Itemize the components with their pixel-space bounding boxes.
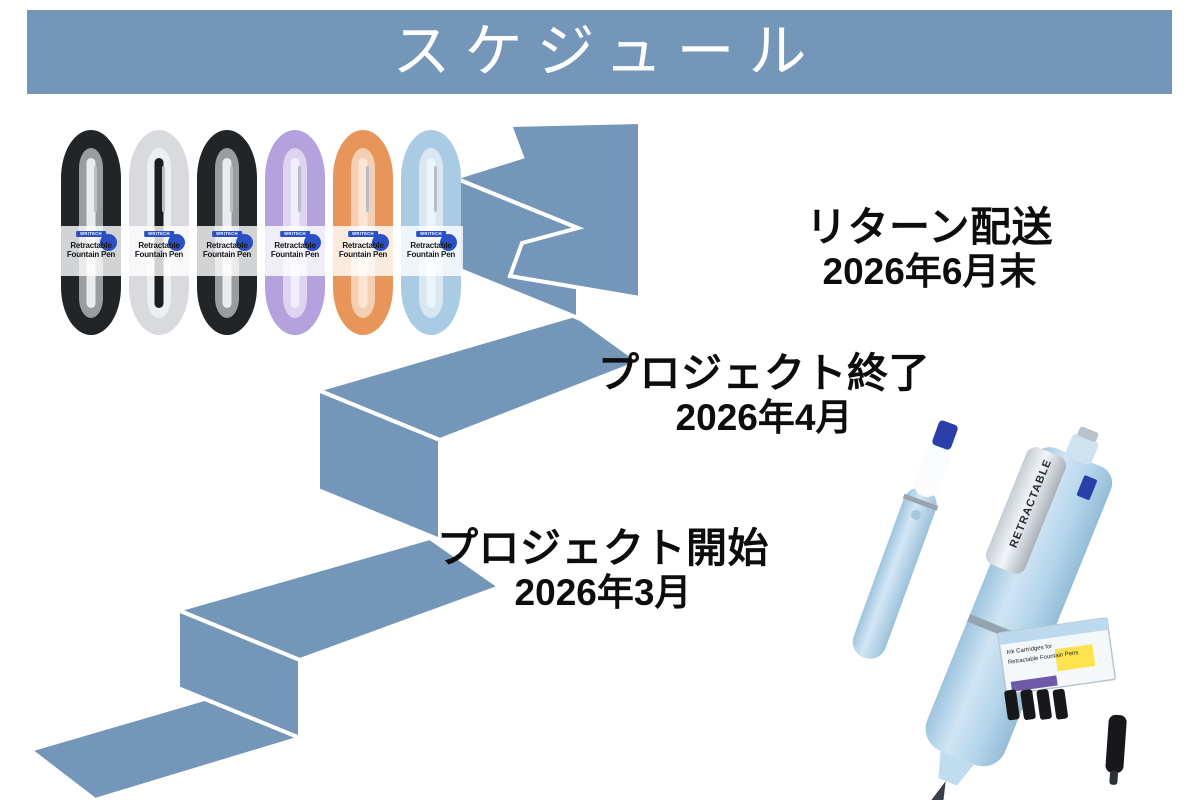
pack-label-line2: Fountain Pen <box>194 251 260 260</box>
pack-pen-clip <box>230 166 233 212</box>
product-pack-2: WRITECHRetractableFountain Pen <box>194 130 260 335</box>
pack-product-label: RetractableFountain Pen <box>58 242 124 260</box>
capped-pen-barrel <box>848 483 942 664</box>
schedule-slide: スケジュール プロジェクト開始 2026年3月 プロジェクト終了 2026年4月 <box>0 0 1200 800</box>
pack-pen-clip <box>434 166 437 212</box>
pack-label-line2: Fountain Pen <box>58 251 124 260</box>
milestone-project-start: プロジェクト開始 2026年3月 <box>437 527 769 613</box>
milestone-3-date: 2026年6月末 <box>806 252 1053 291</box>
capped-pen <box>847 417 966 664</box>
cartridge-neck <box>1109 771 1118 786</box>
pack-product-label: RetractableFountain Pen <box>126 242 192 260</box>
single-ink-cartridge <box>1104 714 1127 785</box>
pack-pen-clip <box>366 166 369 212</box>
pack-label-line2: Fountain Pen <box>398 251 464 260</box>
product-pack-1: WRITECHRetractableFountain Pen <box>126 130 192 335</box>
cartridge-body <box>1105 714 1127 773</box>
pack-pen-clip <box>94 166 97 212</box>
pen-nib <box>927 779 951 800</box>
pack-product-label: RetractableFountain Pen <box>262 242 328 260</box>
pack-pen-clip <box>298 166 301 212</box>
product-pack-4: WRITECHRetractableFountain Pen <box>330 130 396 335</box>
milestone-1-title: プロジェクト開始 <box>437 527 769 570</box>
title-banner: スケジュール <box>27 10 1172 94</box>
pack-label-line2: Fountain Pen <box>330 251 396 260</box>
milestone-3-title: リターン配送 <box>806 206 1053 249</box>
product-lineup-photo: WRITECHRetractableFountain PenWRITECHRet… <box>58 130 468 335</box>
pack-product-label: RetractableFountain Pen <box>194 242 260 260</box>
pack-brand-badge: WRITECH <box>76 231 106 237</box>
pack-pen-clip <box>162 166 165 212</box>
pack-brand-badge: WRITECH <box>416 231 446 237</box>
product-pack-5: WRITECHRetractableFountain Pen <box>398 130 464 335</box>
pack-brand-badge: WRITECH <box>212 231 242 237</box>
milestone-1-date: 2026年3月 <box>437 573 769 612</box>
pack-brand-badge: WRITECH <box>348 231 378 237</box>
pack-brand-badge: WRITECH <box>280 231 310 237</box>
pack-label-line2: Fountain Pen <box>262 251 328 260</box>
milestone-return-shipping: リターン配送 2026年6月末 <box>806 206 1053 292</box>
fountain-pen-product-photo: RETRACTABLE Ink Cartridges for Retractab… <box>795 385 1200 800</box>
pack-product-label: RetractableFountain Pen <box>398 242 464 260</box>
product-pack-3: WRITECHRetractableFountain Pen <box>262 130 328 335</box>
pack-label-line2: Fountain Pen <box>126 251 192 260</box>
pack-brand-badge: WRITECH <box>144 231 174 237</box>
pack-product-label: RetractableFountain Pen <box>330 242 396 260</box>
page-title: スケジュール <box>379 23 821 81</box>
ink-cartridge-box: Ink Cartridges for Retractable Fountain … <box>996 618 1120 727</box>
product-pack-0: WRITECHRetractableFountain Pen <box>58 130 124 335</box>
